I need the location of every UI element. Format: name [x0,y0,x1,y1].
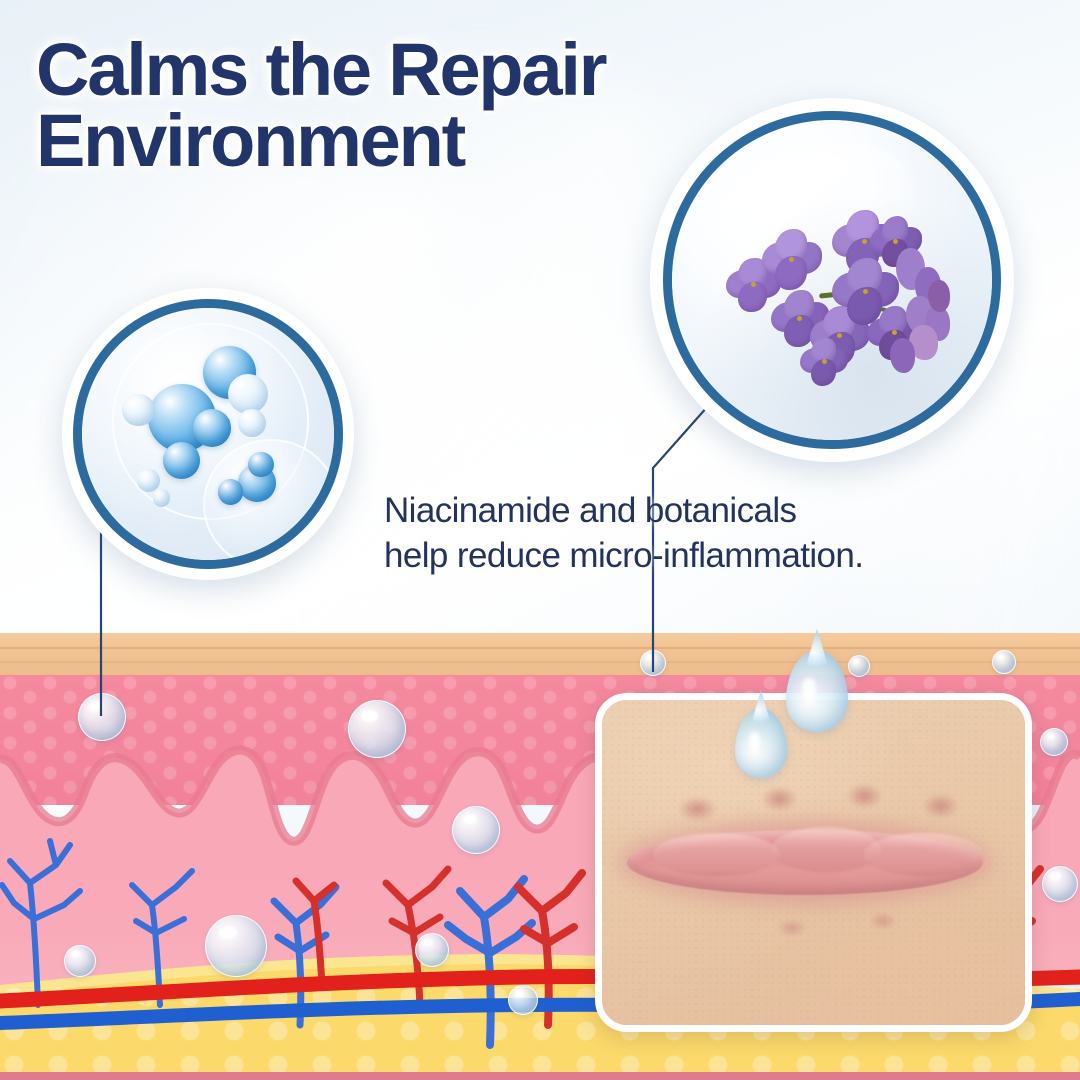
molecule-bubble-pale [153,489,171,507]
lilac-floret [762,229,823,290]
molecule-bubble [218,479,243,504]
benefit-caption: Niacinamide and botanicals help reduce m… [384,489,1024,579]
molecule-bubble-pale [228,374,268,414]
page-title: Calms the Repair Environment [36,34,736,176]
molecule-bubble-pale [137,469,160,492]
niacinamide-molecule-circle[interactable] [62,288,354,580]
molecule-bubble [248,452,273,477]
lilac-bud [928,280,950,312]
molecule-bubble [193,409,231,447]
circle-blue-ring [73,299,343,569]
lilac-floret [800,338,848,386]
molecule-bubbles-icon [82,308,334,560]
infographic-canvas: Calms the Repair Environment Niacinamide… [0,0,1080,1080]
molecule-bubble-pale [238,409,266,437]
lilac-bud [890,338,916,373]
